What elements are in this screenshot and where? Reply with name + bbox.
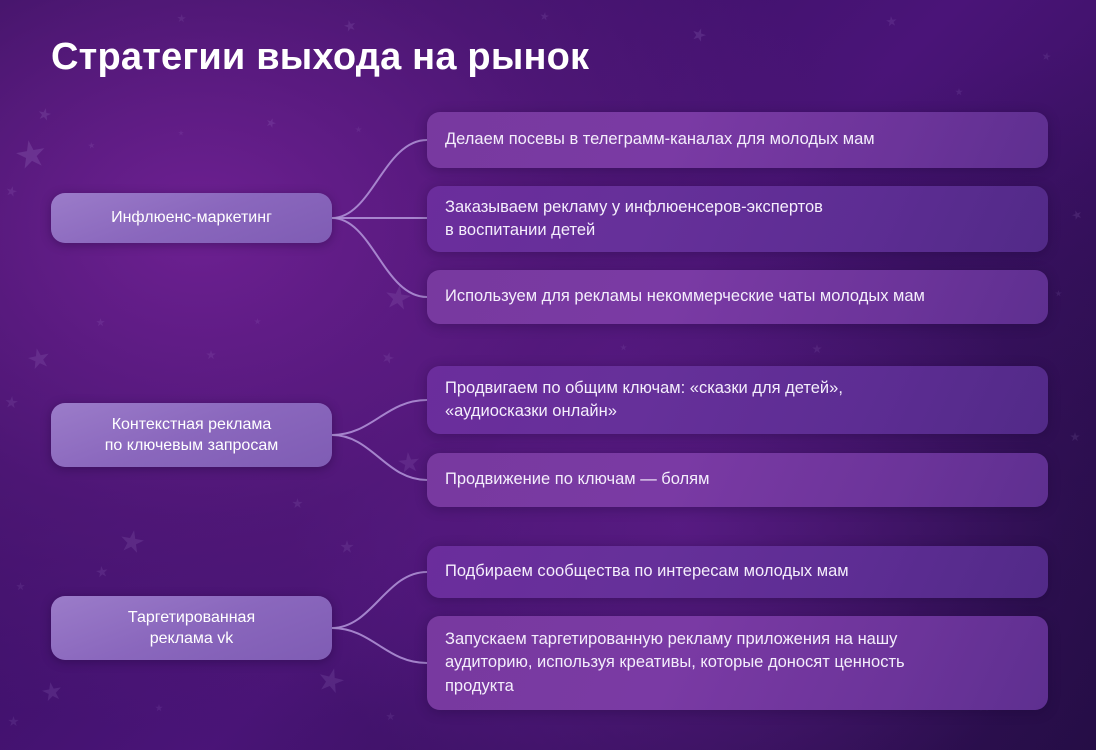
star-icon <box>178 130 184 136</box>
category-label-text: Контекстная реклама по ключевым запросам <box>105 414 278 456</box>
category-contextual-advertising[interactable]: Контекстная реклама по ключевым запросам <box>51 403 332 467</box>
star-icon <box>16 582 25 591</box>
connector-g2-i1 <box>332 400 427 435</box>
star-icon <box>1055 290 1062 297</box>
item-box-g1-i2[interactable]: Заказываем рекламу у инфлюенсеров-экспер… <box>427 186 1048 252</box>
item-box-g1-i1[interactable]: Делаем посевы в телеграмм-каналах для мо… <box>427 112 1048 168</box>
connector-g1-i3 <box>332 218 427 297</box>
star-icon <box>620 344 627 351</box>
connector-g1-i1 <box>332 140 427 218</box>
star-icon <box>254 318 261 325</box>
star-icon <box>386 712 395 721</box>
star-icon <box>206 350 216 360</box>
category-label-text: Инфлюенс-маркетинг <box>111 207 272 228</box>
item-text: Запускаем таргетированную рекламу прилож… <box>445 628 905 698</box>
star-icon <box>8 716 19 727</box>
connector-g3-i2 <box>332 628 427 663</box>
item-box-g2-i2[interactable]: Продвижение по ключам — болям <box>427 453 1048 507</box>
page-title: Стратегии выхода на рынок <box>51 36 589 79</box>
star-icon <box>1071 209 1084 222</box>
star-icon <box>315 665 347 697</box>
star-icon <box>1070 432 1080 442</box>
category-influence-marketing[interactable]: Инфлюенс-маркетинг <box>51 193 332 243</box>
star-icon <box>955 88 963 96</box>
star-icon <box>37 107 52 122</box>
item-text: Заказываем рекламу у инфлюенсеров-экспер… <box>445 196 823 243</box>
item-text: Продвижение по ключам — болям <box>445 468 709 491</box>
star-icon <box>5 185 18 198</box>
item-box-g1-i3[interactable]: Используем для рекламы некоммерческие ча… <box>427 270 1048 324</box>
star-icon <box>812 344 822 354</box>
star-icon <box>355 126 362 133</box>
star-icon <box>26 346 52 372</box>
category-targeted-advertising-vk[interactable]: Таргетированная реклама vk <box>51 596 332 660</box>
star-icon <box>690 26 708 44</box>
star-icon <box>885 15 897 27</box>
star-icon <box>96 318 105 327</box>
item-text: Делаем посевы в телеграмм-каналах для мо… <box>445 128 875 151</box>
star-icon <box>177 14 187 24</box>
slide-canvas: Стратегии выхода на рынок Инфлюенс-марке… <box>0 0 1096 750</box>
star-icon <box>343 19 358 34</box>
star-icon <box>381 351 396 366</box>
star-icon <box>539 11 549 21</box>
star-icon <box>40 680 63 703</box>
item-text: Продвигаем по общим ключам: «сказки для … <box>445 377 843 424</box>
star-icon <box>1041 51 1051 61</box>
star-icon <box>383 283 412 312</box>
star-icon <box>292 498 303 509</box>
item-text: Используем для рекламы некоммерческие ча… <box>445 285 925 308</box>
star-icon <box>155 704 163 712</box>
star-icon <box>340 540 354 554</box>
item-text: Подбираем сообщества по интересам молоды… <box>445 560 849 583</box>
star-icon <box>95 565 109 579</box>
star-icon <box>118 528 146 556</box>
connector-g2-i2 <box>332 435 427 480</box>
star-icon <box>4 395 18 409</box>
category-label-text: Таргетированная реклама vk <box>128 607 255 649</box>
star-icon <box>397 451 421 475</box>
star-icon <box>88 142 96 150</box>
connector-g3-i1 <box>332 572 427 628</box>
item-box-g3-i1[interactable]: Подбираем сообщества по интересам молоды… <box>427 546 1048 598</box>
star-icon <box>14 138 49 173</box>
item-box-g2-i1[interactable]: Продвигаем по общим ключам: «сказки для … <box>427 366 1048 434</box>
item-box-g3-i2[interactable]: Запускаем таргетированную рекламу прилож… <box>427 616 1048 710</box>
star-icon <box>265 117 278 130</box>
